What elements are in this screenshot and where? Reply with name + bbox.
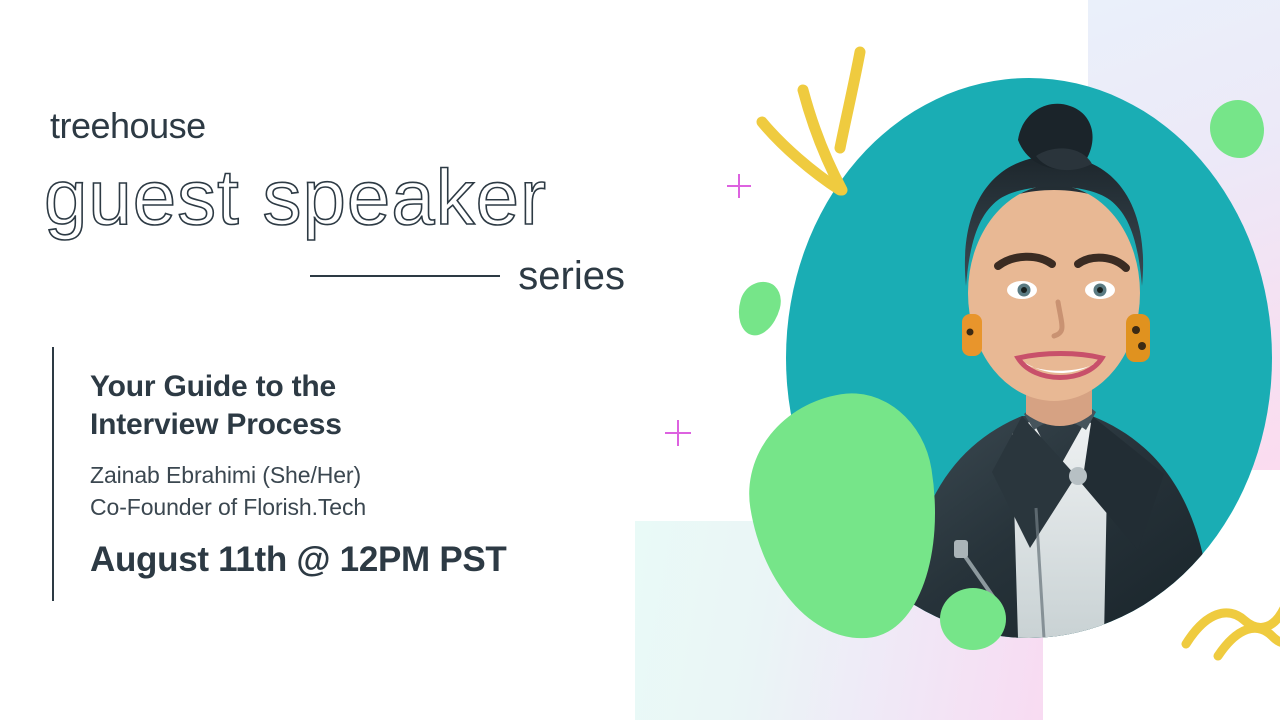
brand-wordmark: treehouse bbox=[50, 108, 206, 144]
series-divider-rule bbox=[310, 275, 500, 277]
plus-cross-icon-top bbox=[727, 174, 751, 198]
headline-outline-text: guest speaker bbox=[44, 158, 547, 236]
green-blob-bottom bbox=[940, 588, 1006, 650]
green-blob-top-right bbox=[1210, 100, 1264, 158]
talk-title: Your Guide to the Interview Process bbox=[90, 368, 630, 445]
promo-slide: treehouse guest speaker series Your Guid… bbox=[0, 0, 1280, 720]
green-blob-left bbox=[732, 277, 786, 341]
speaker-name: Zainab Ebrahimi (She/Her) bbox=[90, 459, 630, 492]
session-details: Your Guide to the Interview Process Zain… bbox=[90, 368, 630, 579]
plus-cross-icon-mid bbox=[665, 420, 691, 446]
talk-title-line1: Your Guide to the bbox=[90, 368, 630, 406]
talk-title-line2: Interview Process bbox=[90, 406, 630, 444]
series-row: series bbox=[310, 256, 625, 296]
vertical-accent-rule bbox=[52, 347, 54, 601]
session-datetime: August 11th @ 12PM PST bbox=[90, 542, 630, 579]
series-word: series bbox=[518, 256, 625, 296]
speaker-role: Co-Founder of Florish.Tech bbox=[90, 491, 630, 524]
